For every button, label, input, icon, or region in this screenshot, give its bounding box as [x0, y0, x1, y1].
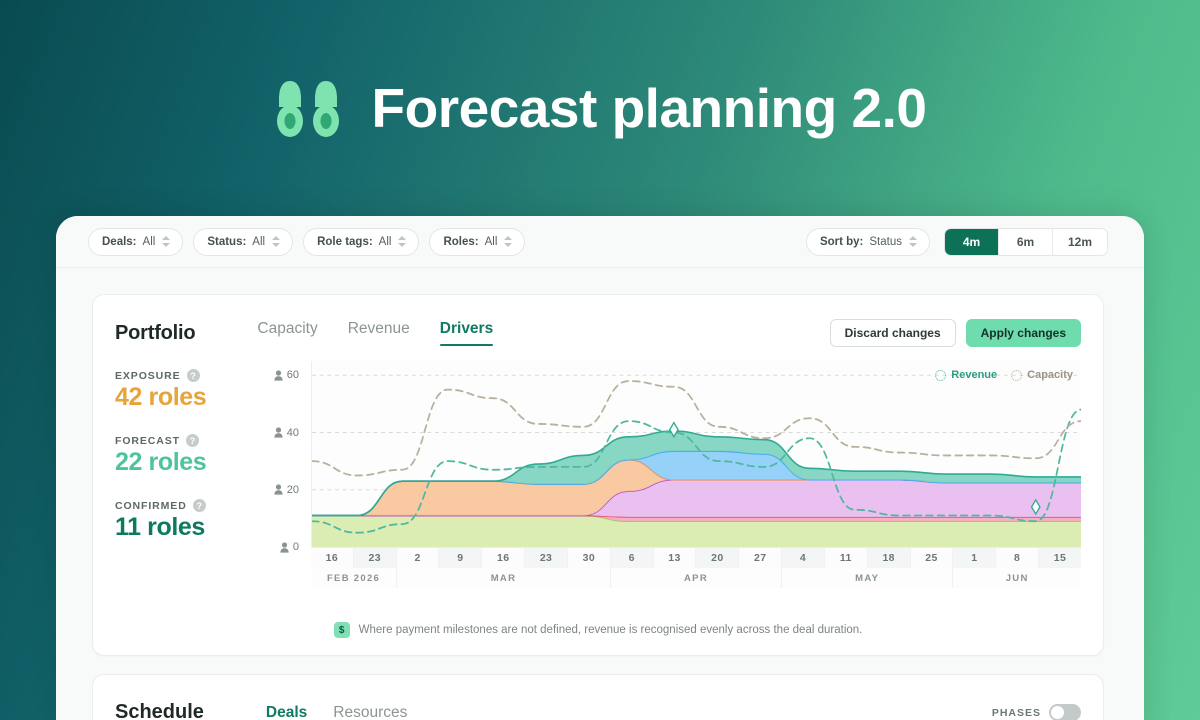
filter-roles-value: All: [485, 236, 498, 248]
phases-label: PHASES: [992, 707, 1041, 719]
chevron-updown-icon: [272, 235, 281, 248]
tab-revenue[interactable]: Revenue: [348, 320, 410, 346]
range-12m-button[interactable]: 12m: [1053, 229, 1107, 255]
stat-exposure: EXPOSURE ? 42 roles: [115, 369, 265, 412]
filter-deals-value: All: [143, 236, 156, 248]
person-icon: [274, 484, 283, 495]
tab-drivers[interactable]: Drivers: [440, 320, 493, 346]
filter-deals-label: Deals:: [102, 236, 137, 248]
x-day-cell: 16: [482, 548, 525, 568]
filter-status[interactable]: Status: All: [193, 228, 293, 256]
x-day-cell: 23: [525, 548, 568, 568]
y-tick-label: 40: [287, 427, 299, 439]
drivers-chart: 0204060 Revenue Capacity 162329162330613: [265, 361, 1081, 613]
help-circle-icon[interactable]: ?: [193, 499, 206, 512]
portfolio-tabs: Capacity Revenue Drivers: [257, 320, 493, 346]
chart-x-axis: 162329162330613202741118251815 FEB 2026M…: [311, 547, 1081, 588]
portfolio-actions: Discard changes Apply changes: [830, 319, 1081, 347]
person-icon: [274, 370, 283, 381]
y-tick-40: 40: [274, 427, 299, 439]
portfolio-card-body: EXPOSURE ? 42 roles FORECAST ? 22 roles …: [93, 351, 1103, 613]
filter-roles[interactable]: Roles: All: [429, 228, 525, 256]
x-month-cell: FEB 2026: [311, 568, 397, 588]
filter-status-label: Status:: [207, 236, 246, 248]
portfolio-title: Portfolio: [115, 322, 195, 345]
x-day-cell: 18: [868, 548, 911, 568]
x-day-cell: 11: [825, 548, 868, 568]
x-day-cell: 20: [696, 548, 739, 568]
toolbar: Deals: All Status: All Role tags: All Ro…: [56, 216, 1144, 268]
chart-y-axis: 0204060: [265, 361, 307, 547]
chevron-updown-icon: [504, 235, 513, 248]
stat-confirmed: CONFIRMED ? 11 roles: [115, 499, 265, 542]
chevron-updown-icon: [398, 235, 407, 248]
range-4m-button[interactable]: 4m: [945, 229, 999, 255]
sort-by-label: Sort by:: [820, 236, 863, 248]
stat-exposure-header: EXPOSURE ?: [115, 369, 265, 382]
x-day-cell: 15: [1039, 548, 1081, 568]
currency-badge-icon: $: [334, 622, 350, 638]
filter-role-tags-label: Role tags:: [317, 236, 373, 248]
help-circle-icon[interactable]: ?: [187, 369, 200, 382]
y-tick-label: 20: [287, 484, 299, 496]
x-day-cell: 30: [568, 548, 611, 568]
stat-forecast-value: 22 roles: [115, 448, 265, 477]
page-title: Forecast planning 2.0: [372, 81, 927, 136]
x-day-cell: 25: [911, 548, 954, 568]
apply-changes-button[interactable]: Apply changes: [966, 319, 1081, 347]
stat-exposure-value: 42 roles: [115, 383, 265, 412]
portfolio-card-header: Portfolio Capacity Revenue Drivers Disca…: [93, 295, 1103, 351]
filter-role-tags-value: All: [379, 236, 392, 248]
y-tick-60: 60: [274, 369, 299, 381]
schedule-card: Schedule Deals Resources PHASES: [92, 674, 1104, 720]
stat-confirmed-header: CONFIRMED ?: [115, 499, 265, 512]
discard-changes-button[interactable]: Discard changes: [830, 319, 956, 347]
x-day-cell: 13: [654, 548, 697, 568]
tab-deals[interactable]: Deals: [266, 704, 307, 720]
chart-footnote: $ Where payment milestones are not defin…: [93, 613, 1103, 647]
stat-forecast: FORECAST ? 22 roles: [115, 434, 265, 477]
legend-item-revenue[interactable]: Revenue: [935, 369, 997, 381]
x-month-cell: JUN: [953, 568, 1081, 588]
x-day-cell: 6: [611, 548, 654, 568]
y-tick-20: 20: [274, 484, 299, 496]
x-month-cell: MAR: [397, 568, 611, 588]
x-day-cell: 23: [354, 548, 397, 568]
person-icon: [274, 427, 283, 438]
x-day-cell: 16: [311, 548, 354, 568]
x-day-cell: 4: [782, 548, 825, 568]
x-day-cell: 1: [953, 548, 996, 568]
portfolio-card: Portfolio Capacity Revenue Drivers Disca…: [92, 294, 1104, 656]
x-day-cell: 27: [739, 548, 782, 568]
toolbar-right: Sort by: Status 4m 6m 12m: [806, 228, 1108, 256]
x-day-cell: 2: [397, 548, 440, 568]
tab-resources[interactable]: Resources: [333, 704, 407, 720]
legend-item-capacity[interactable]: Capacity: [1011, 369, 1073, 381]
chart-legend: Revenue Capacity: [935, 369, 1073, 381]
legend-dot-capacity: [1011, 370, 1022, 381]
stat-exposure-label: EXPOSURE: [115, 370, 181, 382]
schedule-header: Schedule Deals Resources PHASES: [93, 675, 1103, 720]
y-tick-label: 60: [287, 369, 299, 381]
schedule-header-right: PHASES: [992, 704, 1081, 720]
person-icon: [280, 542, 289, 553]
help-circle-icon[interactable]: ?: [186, 434, 199, 447]
chart-footnote-text: Where payment milestones are not defined…: [359, 624, 863, 636]
x-month-cell: MAY: [782, 568, 953, 588]
x-day-cell: 8: [996, 548, 1039, 568]
range-6m-button[interactable]: 6m: [999, 229, 1053, 255]
stat-confirmed-label: CONFIRMED: [115, 500, 187, 512]
x-month-cell: APR: [611, 568, 782, 588]
filter-deals[interactable]: Deals: All: [88, 228, 183, 256]
chart-svg: [312, 361, 1081, 547]
filter-group: Deals: All Status: All Role tags: All Ro…: [88, 228, 525, 256]
y-tick-0: 0: [280, 541, 299, 553]
tab-capacity[interactable]: Capacity: [257, 320, 317, 346]
chart-x-months: FEB 2026MARAPRMAYJUN: [311, 568, 1081, 588]
stat-confirmed-value: 11 roles: [115, 513, 265, 542]
binoculars-icon: [274, 77, 342, 139]
app-window: Deals: All Status: All Role tags: All Ro…: [56, 216, 1144, 720]
chevron-updown-icon: [909, 235, 918, 248]
chart-x-days: 162329162330613202741118251815: [311, 547, 1081, 568]
filter-roles-label: Roles:: [443, 236, 478, 248]
schedule-title: Schedule: [115, 701, 204, 720]
x-day-cell: 9: [439, 548, 482, 568]
schedule-tabs: Deals Resources: [266, 704, 407, 720]
chart-plot-area[interactable]: [311, 361, 1081, 547]
hero-banner: Forecast planning 2.0: [0, 0, 1200, 216]
legend-label-capacity: Capacity: [1027, 369, 1073, 381]
chevron-updown-icon: [162, 235, 171, 248]
range-segmented-control: 4m 6m 12m: [944, 228, 1108, 256]
phases-toggle[interactable]: [1049, 704, 1081, 720]
filter-status-value: All: [252, 236, 265, 248]
stats-panel: EXPOSURE ? 42 roles FORECAST ? 22 roles …: [115, 361, 265, 613]
y-tick-label: 0: [293, 541, 299, 553]
stat-forecast-label: FORECAST: [115, 435, 180, 447]
sort-by-select[interactable]: Sort by: Status: [806, 228, 930, 256]
stat-forecast-header: FORECAST ?: [115, 434, 265, 447]
sort-by-value: Status: [869, 236, 902, 248]
legend-label-revenue: Revenue: [951, 369, 997, 381]
filter-role-tags[interactable]: Role tags: All: [303, 228, 419, 256]
legend-dot-revenue: [935, 370, 946, 381]
